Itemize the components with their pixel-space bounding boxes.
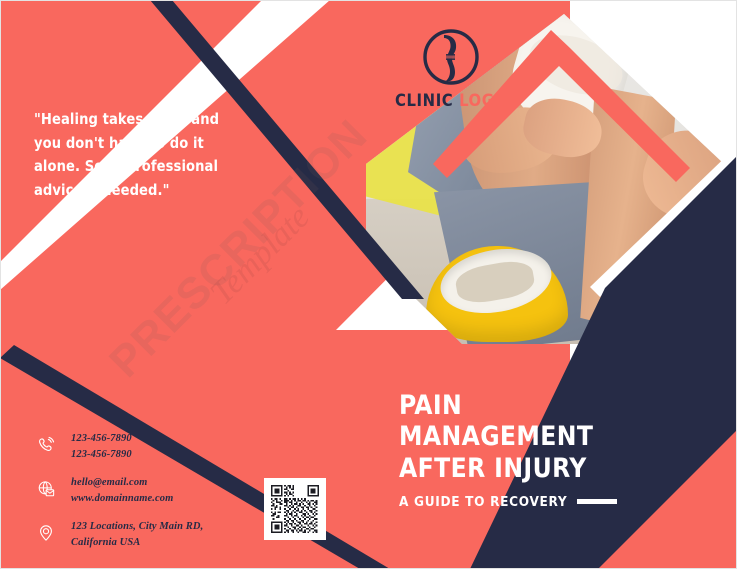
- contact-row-phone[interactable]: 123-456-7890 123-456-7890: [31, 430, 261, 462]
- contact-block: 123-456-7890 123-456-7890 hello@email.co…: [31, 430, 261, 562]
- logo-word-logo: LOGO: [459, 91, 508, 110]
- address-line-2: California USA: [71, 537, 140, 548]
- title-block: PAIN MANAGEMENT AFTER INJURY A GUIDE TO …: [399, 390, 709, 510]
- contact-address-text: 123 Locations, City Main RD, California …: [71, 518, 203, 550]
- page-title-line-3: AFTER INJURY: [399, 453, 700, 484]
- logo-word-clinic: CLINIC: [395, 91, 453, 110]
- quote-text: "Healing takes time, and you don't have …: [34, 108, 235, 202]
- subtitle-row: A GUIDE TO RECOVERY: [399, 494, 709, 510]
- location-pin-icon: [31, 518, 60, 547]
- knee-joint-icon: [422, 28, 480, 86]
- flyer-canvas: PRESCRIPTION Template "Healing takes tim…: [0, 0, 737, 569]
- qr-code-panel[interactable]: [264, 478, 326, 540]
- subtitle-dash: [577, 499, 617, 504]
- globe-email-icon: [31, 474, 60, 503]
- page-title-line-1: PAIN: [399, 390, 700, 421]
- clinic-logo[interactable]: CLINIC LOGO: [395, 28, 507, 110]
- phone-ringing-icon: [31, 430, 60, 459]
- contact-email-text: hello@email.com www.domainname.com: [71, 474, 173, 506]
- phone-line-2: 123-456-7890: [71, 449, 132, 460]
- contact-phone-text: 123-456-7890 123-456-7890: [71, 430, 132, 462]
- address-line-1: 123 Locations, City Main RD,: [71, 521, 203, 532]
- website-line: www.domainname.com: [71, 493, 173, 504]
- email-line: hello@email.com: [71, 477, 147, 488]
- contact-row-email[interactable]: hello@email.com www.domainname.com: [31, 474, 261, 506]
- qr-code-icon: [271, 485, 319, 533]
- logo-wordmark: CLINIC LOGO: [395, 91, 507, 110]
- phone-line-1: 123-456-7890: [71, 433, 132, 444]
- page-subtitle: A GUIDE TO RECOVERY: [399, 494, 567, 510]
- page-title-line-2: MANAGEMENT: [399, 421, 700, 452]
- contact-row-address[interactable]: 123 Locations, City Main RD, California …: [31, 518, 261, 550]
